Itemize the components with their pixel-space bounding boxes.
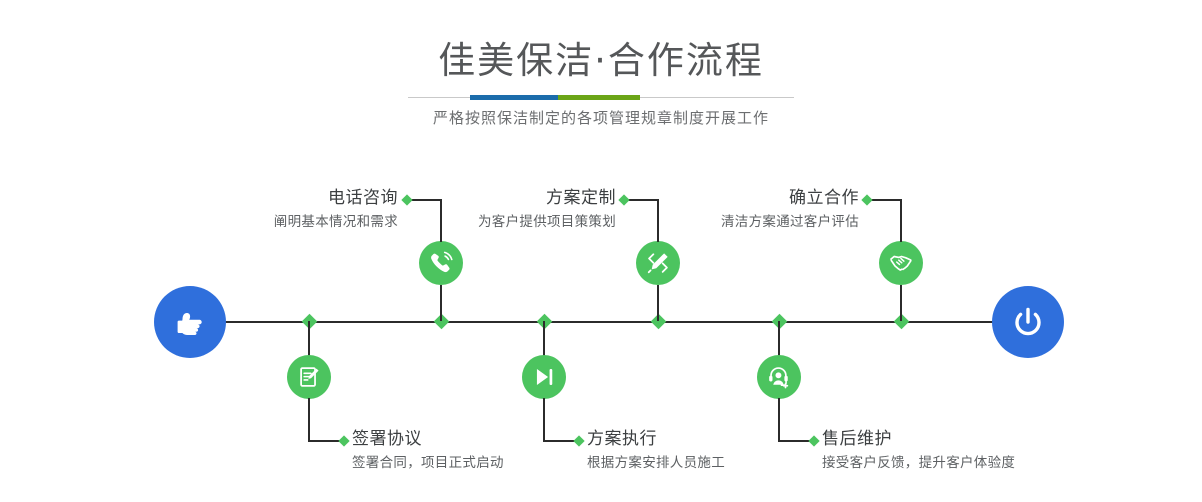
- connector-vertical-6-upper: [778, 321, 780, 356]
- step-node-3[interactable]: [636, 241, 680, 285]
- page-title: 佳美保洁·合作流程: [0, 38, 1202, 84]
- step-label-1: 电话咨询 阐明基本情况和需求: [150, 187, 398, 232]
- step-label-6: 售后维护 接受客户反馈，提升客户体验度: [822, 428, 1122, 473]
- headset-support-icon: [766, 364, 792, 390]
- step-title-1: 电话咨询: [150, 187, 398, 209]
- step-desc-4: 根据方案安排人员施工: [587, 453, 847, 473]
- phone-call-icon: [428, 250, 454, 276]
- flow-diagram-page: 佳美保洁·合作流程 严格按照保洁制定的各项管理规章制度开展工作: [0, 0, 1202, 502]
- connector-vertical-4-lower: [543, 398, 545, 441]
- step-node-6[interactable]: [757, 355, 801, 399]
- divider-segment-blue: [470, 95, 558, 100]
- connector-vertical-2-lower: [308, 398, 310, 441]
- page-header: 佳美保洁·合作流程 严格按照保洁制定的各项管理规章制度开展工作: [0, 0, 1202, 150]
- step-label-3: 方案定制 为客户提供项目策策划: [368, 187, 616, 232]
- step-title-4: 方案执行: [587, 428, 847, 450]
- step-desc-3: 为客户提供项目策策划: [368, 212, 616, 232]
- connector-vertical-3-lower: [657, 285, 659, 321]
- step-label-4: 方案执行 根据方案安排人员施工: [587, 428, 847, 473]
- step-node-5[interactable]: [879, 241, 923, 285]
- connector-horizontal-4: [543, 440, 577, 442]
- step-desc-1: 阐明基本情况和需求: [150, 212, 398, 232]
- connector-vertical-6-lower: [778, 398, 780, 441]
- connector-vertical-2-upper: [308, 321, 310, 356]
- connector-horizontal-2: [308, 440, 342, 442]
- timeline-end-badge: [992, 286, 1064, 358]
- page-subtitle: 严格按照保洁制定的各项管理规章制度开展工作: [0, 106, 1202, 130]
- step-title-6: 售后维护: [822, 428, 1122, 450]
- connector-vertical-1-lower: [440, 285, 442, 321]
- step-title-3: 方案定制: [368, 187, 616, 209]
- connector-vertical-5-upper: [900, 199, 902, 242]
- divider-segment-green: [558, 95, 640, 100]
- step-desc-6: 接受客户反馈，提升客户体验度: [822, 453, 1122, 473]
- power-icon: [1008, 302, 1048, 342]
- title-divider: [408, 95, 794, 100]
- step-node-1[interactable]: [419, 241, 463, 285]
- timeline-axis: [200, 321, 1012, 323]
- timeline-start-badge: [154, 286, 226, 358]
- step-label-5: 确立合作 清洁方案通过客户评估: [611, 187, 859, 232]
- connector-horizontal-5: [869, 199, 901, 201]
- step-node-4[interactable]: [522, 355, 566, 399]
- connector-tip-2: [338, 435, 349, 446]
- pencil-design-icon: [645, 250, 671, 276]
- step-label-2: 签署协议 签署合同，项目正式启动: [352, 428, 612, 473]
- step-desc-5: 清洁方案通过客户评估: [611, 212, 859, 232]
- connector-tip-5: [861, 194, 872, 205]
- connector-vertical-5-lower: [900, 285, 902, 321]
- document-edit-icon: [296, 364, 322, 390]
- handshake-icon: [888, 250, 914, 276]
- step-node-2[interactable]: [287, 355, 331, 399]
- step-title-2: 签署协议: [352, 428, 612, 450]
- connector-vertical-4-upper: [543, 321, 545, 356]
- pointing-hand-icon: [170, 302, 210, 342]
- step-title-5: 确立合作: [611, 187, 859, 209]
- play-execute-icon: [531, 364, 557, 390]
- connector-horizontal-6: [778, 440, 812, 442]
- step-desc-2: 签署合同，项目正式启动: [352, 453, 612, 473]
